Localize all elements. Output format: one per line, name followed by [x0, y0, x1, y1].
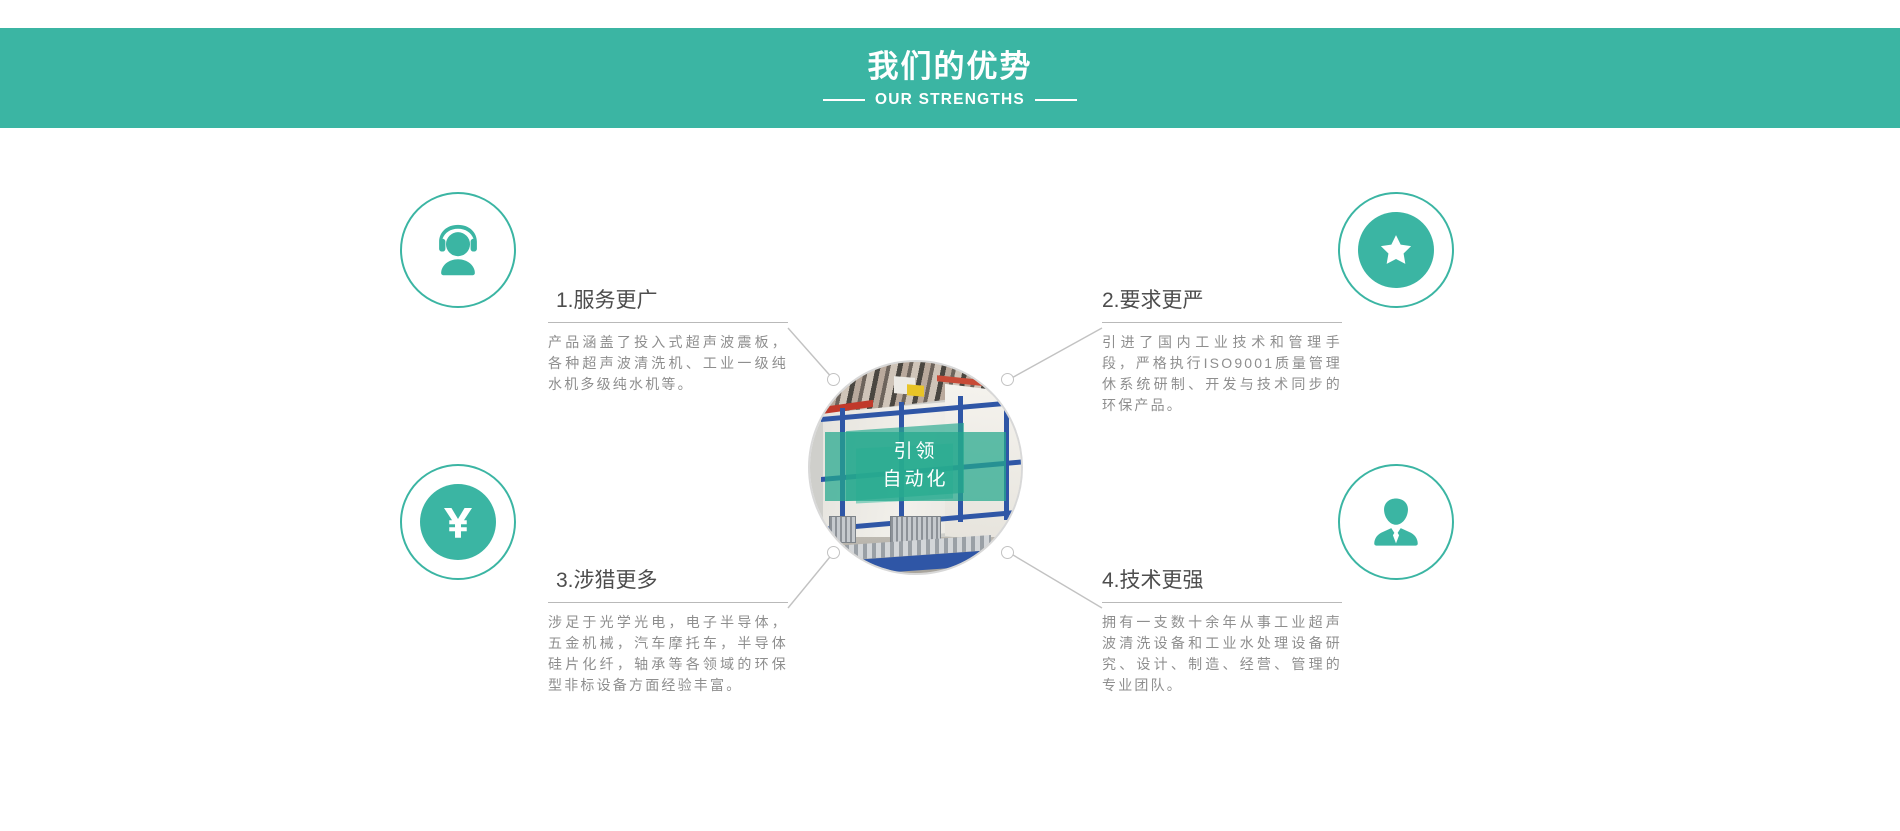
- connector-node-1: [827, 373, 840, 386]
- header-rule-left: [823, 99, 865, 101]
- feature-icon-circle-2[interactable]: [1338, 192, 1454, 308]
- photo-caption-line2: 自动化: [882, 466, 948, 495]
- feature-block-2: 2.要求更严 引进了国内工业技术和管理手段，严格执行ISO9001质量管理休系统…: [1102, 288, 1342, 416]
- feature-title-1: 1.服务更广: [548, 288, 788, 322]
- yen-currency-icon: [437, 501, 479, 543]
- headset-support-icon: [420, 212, 496, 288]
- center-photo-circle: 引领 自动化: [808, 360, 1023, 575]
- star-icon: [1377, 231, 1415, 269]
- feature-body-2: 引进了国内工业技术和管理手段，严格执行ISO9001质量管理休系统研制、开发与技…: [1102, 332, 1342, 416]
- feature-body-1: 产品涵盖了投入式超声波震板，各种超声波清洗机、工业一级纯水机多级纯水机等。: [548, 332, 788, 395]
- advantages-section: 我们的优势 OUR STRENGTHS: [0, 0, 1900, 831]
- star-icon-backdrop: [1358, 212, 1434, 288]
- feature-body-3: 涉足于光学光电，电子半导体，五金机械，汽车摩托车，半导体硅片化纤，轴承等各领域的…: [548, 612, 788, 696]
- subtitle-row: OUR STRENGTHS: [823, 91, 1077, 109]
- feature-divider-2: [1102, 322, 1342, 323]
- feature-icon-circle-3[interactable]: [400, 464, 516, 580]
- feature-block-4: 4.技术更强 拥有一支数十余年从事工业超声波清洗设备和工业水处理设备研究、设计、…: [1102, 568, 1342, 696]
- connector-node-4: [1001, 546, 1014, 559]
- page-title: 我们的优势: [868, 49, 1033, 85]
- feature-icon-circle-1[interactable]: [400, 192, 516, 308]
- businessman-icon: [1358, 484, 1434, 560]
- yen-currency-icon-backdrop: [420, 484, 496, 560]
- feature-divider-4: [1102, 602, 1342, 603]
- page-subtitle: OUR STRENGTHS: [875, 91, 1025, 109]
- feature-block-1: 1.服务更广 产品涵盖了投入式超声波震板，各种超声波清洗机、工业一级纯水机多级纯…: [548, 288, 788, 395]
- photo-caption-line1: 引领: [893, 438, 937, 467]
- connector-node-2: [1001, 373, 1014, 386]
- feature-block-3: 3.涉猎更多 涉足于光学光电，电子半导体，五金机械，汽车摩托车，半导体硅片化纤，…: [548, 568, 788, 696]
- section-header-band: 我们的优势 OUR STRENGTHS: [0, 28, 1900, 128]
- feature-divider-3: [548, 602, 788, 603]
- feature-title-3: 3.涉猎更多: [548, 568, 788, 602]
- feature-title-4: 4.技术更强: [1102, 568, 1342, 602]
- feature-title-2: 2.要求更严: [1102, 288, 1342, 322]
- header-rule-right: [1035, 99, 1077, 101]
- advantages-diagram: 引领 自动化: [0, 128, 1900, 831]
- feature-icon-circle-4[interactable]: [1338, 464, 1454, 580]
- photo-caption: 引领 自动化: [810, 432, 1021, 502]
- feature-body-4: 拥有一支数十余年从事工业超声波清洗设备和工业水处理设备研究、设计、制造、经营、管…: [1102, 612, 1342, 696]
- connector-node-3: [827, 546, 840, 559]
- feature-divider-1: [548, 322, 788, 323]
